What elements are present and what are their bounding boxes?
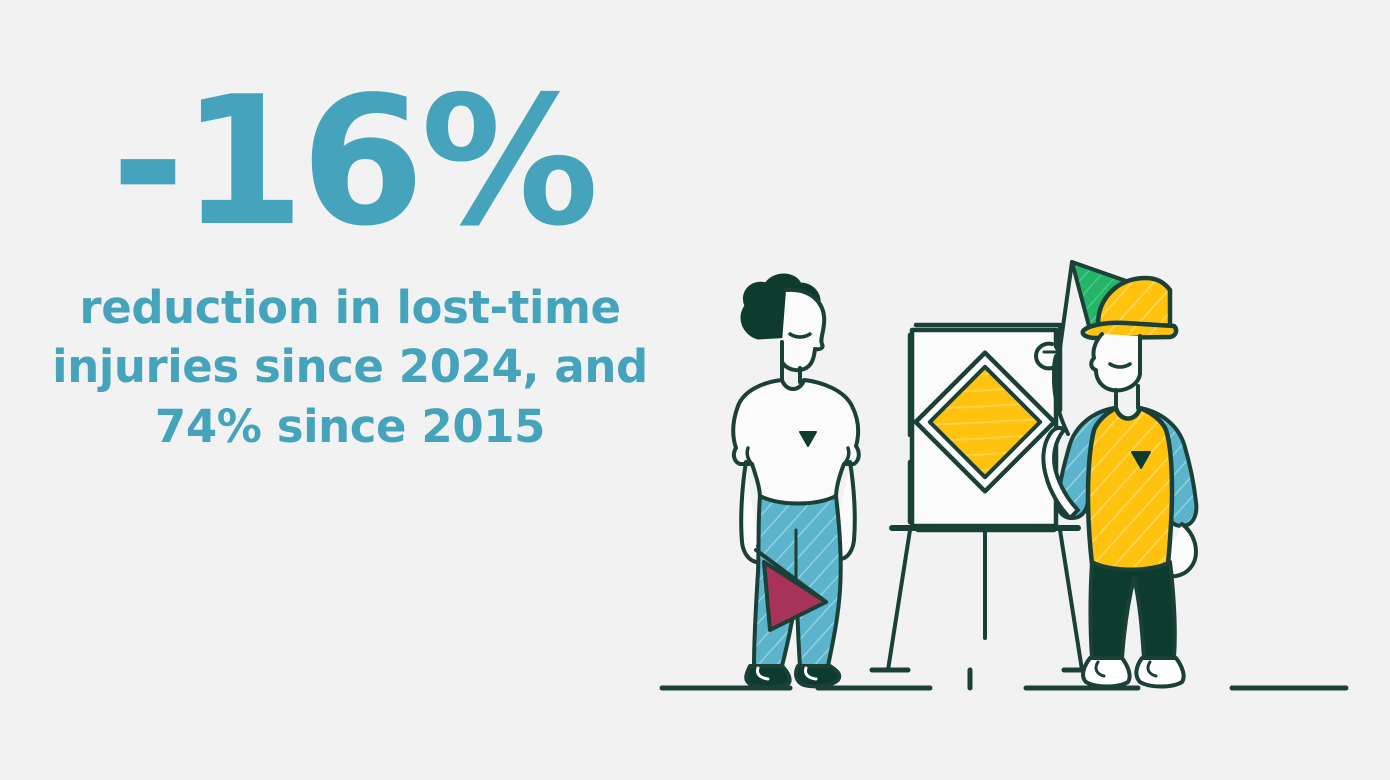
infographic-root: -16% reduction in lost-time injuries sin…: [0, 0, 1390, 780]
woman-figure: [733, 275, 859, 687]
stat-headline: -16%: [0, 80, 700, 244]
stat-caption: reduction in lost-time injuries since 20…: [30, 278, 670, 456]
stat-caption-line-2: injuries since 2024, and: [30, 337, 670, 396]
stat-text-block: -16% reduction in lost-time injuries sin…: [0, 80, 700, 456]
stat-caption-line-1: reduction in lost-time: [30, 278, 670, 337]
stat-caption-line-3: 74% since 2015: [30, 397, 670, 456]
illustration: [640, 230, 1390, 730]
